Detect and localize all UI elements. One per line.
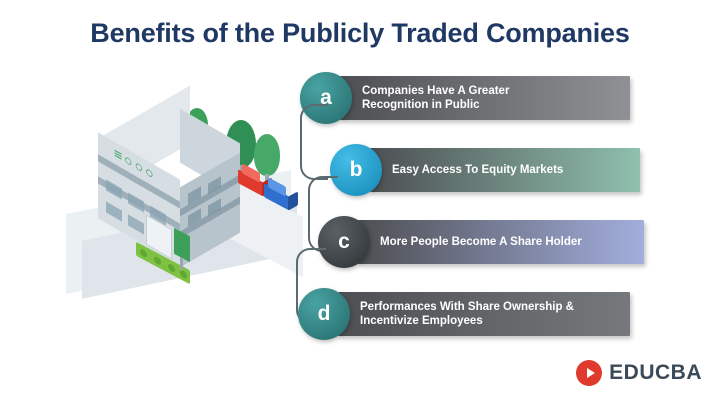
connector-a-b [300,104,328,180]
hedge-detail [168,263,175,274]
play-triangle-icon [587,368,595,378]
brand-logo: EDUCBA [576,360,702,386]
item-badge-d[interactable]: d [298,288,350,340]
item-text: Easy Access To Equity Markets [392,148,597,192]
item-text: More People Become A Share Holder [380,220,590,264]
hedge-detail [140,248,147,259]
hedge-detail [180,269,187,280]
hedge-detail [154,255,161,266]
brand-name: EDUCBA [609,361,702,385]
item-text: Companies Have A Greater Recognition in … [362,76,577,120]
educba-play-icon [576,360,602,386]
slide-canvas: Benefits of the Publicly Traded Companie… [0,0,720,404]
isometric-office-building-illustration: ≡○○○ [58,72,318,302]
page-title: Benefits of the Publicly Traded Companie… [0,18,720,49]
item-text: Performances With Share Ownership & Ince… [360,292,582,336]
tree-crown-icon [254,134,280,176]
street-sign-pole [180,258,183,270]
